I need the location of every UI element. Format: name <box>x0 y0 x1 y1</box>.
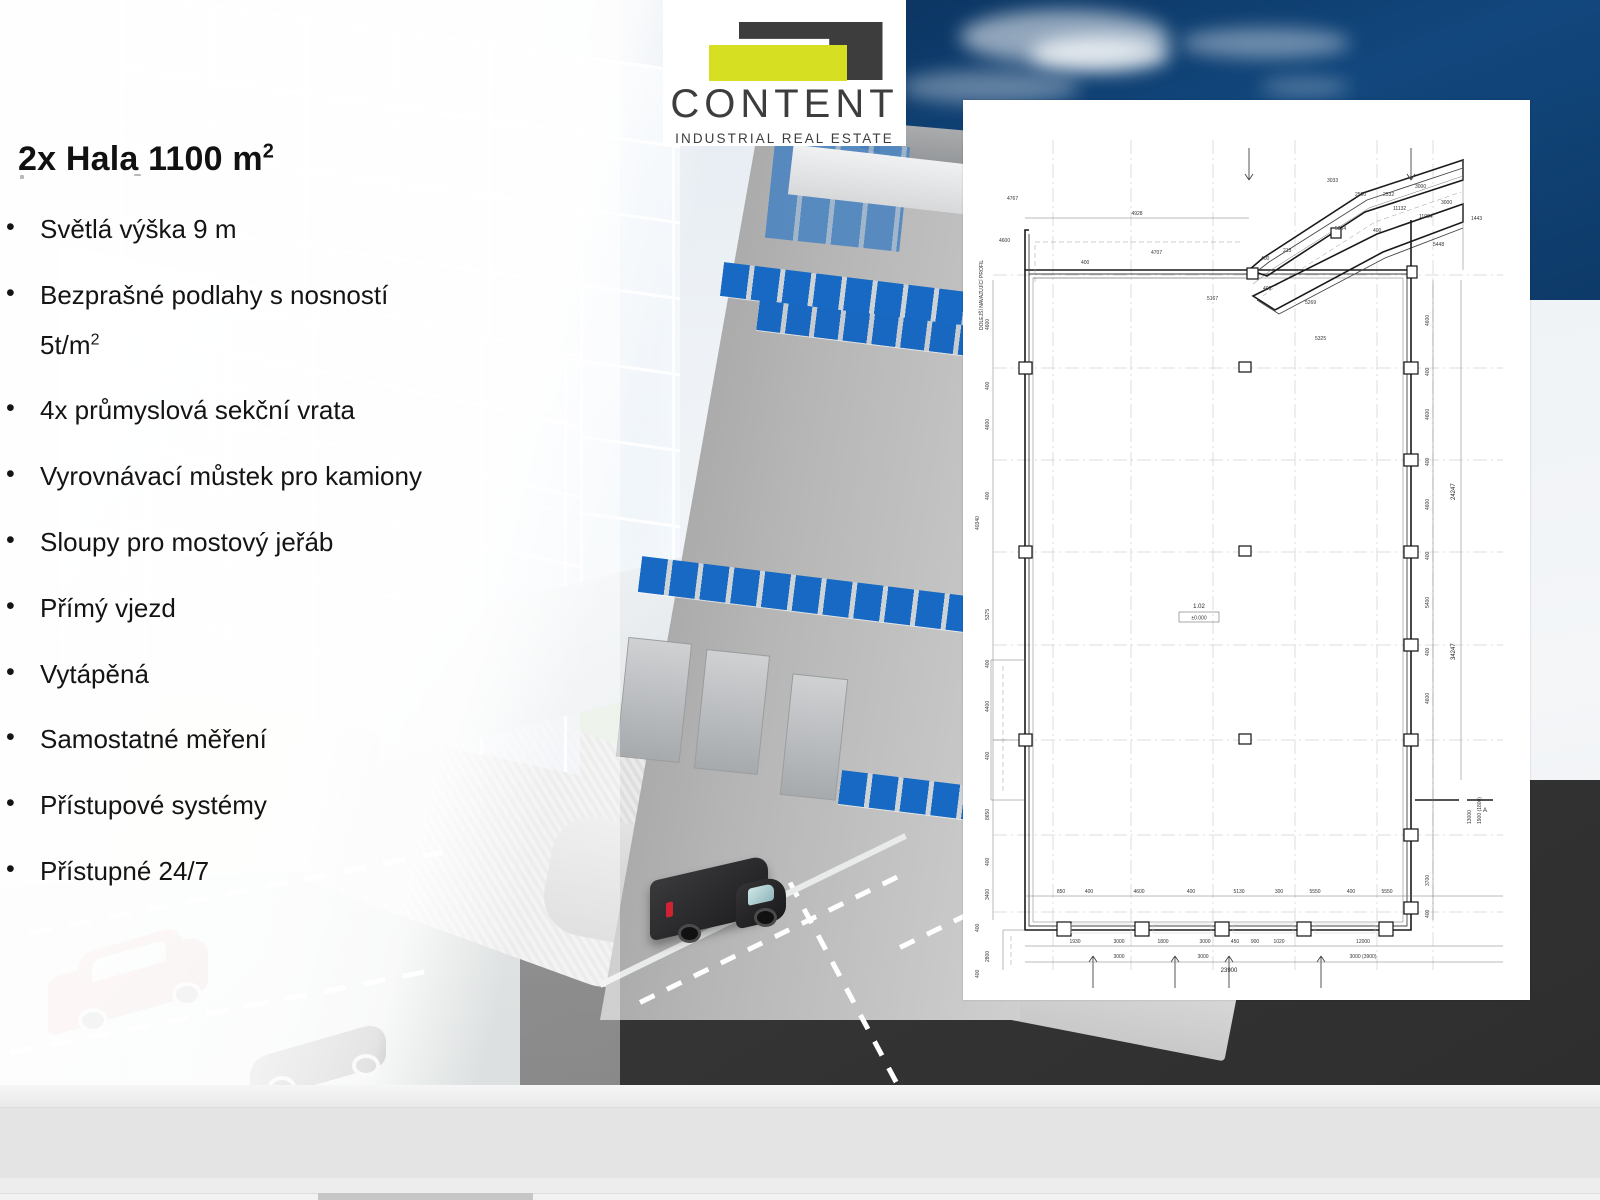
dim-label: 400 <box>1263 286 1272 292</box>
bullet-text: Sloupy pro mostový jeřáb <box>40 527 333 557</box>
bullet-text: 4x průmyslová sekční vrata <box>40 395 355 425</box>
dim-label: 400 <box>975 969 981 978</box>
feature-bullet-list: Světlá výška 9 m Bezprašné podlahy s nos… <box>0 213 560 889</box>
dim-label: 4707 <box>1151 250 1162 256</box>
dim-label: 5400 <box>1425 597 1431 608</box>
dim-label: 4600 <box>1425 315 1431 326</box>
dim-label: 3700 <box>1425 875 1431 886</box>
dim-label: 1443 <box>1471 216 1482 222</box>
dim-label: 5325 <box>1315 336 1326 342</box>
chrome-divider <box>0 1085 1600 1108</box>
dim-label: 8650 <box>985 809 991 820</box>
dim-label: 5130 <box>1233 889 1244 895</box>
list-item: Přístupné 24/7 <box>0 855 560 889</box>
content-logo-mark-icon <box>687 22 883 80</box>
dim-label: 4600 <box>1425 693 1431 704</box>
dim-label: 11984 <box>1419 214 1433 220</box>
dim-label: 450 <box>1231 939 1240 945</box>
dim-label: 400 <box>1425 367 1431 376</box>
dim-label: 3033 <box>1327 178 1338 184</box>
logo-lime-bar <box>709 45 847 81</box>
room-label: 1.02 <box>1193 604 1205 610</box>
room-level: ±0.000 <box>1191 616 1206 622</box>
dim-label: 400 <box>1261 256 1270 262</box>
dim-label-overall-bottom: 23900 <box>1221 968 1238 974</box>
list-item: Sloupy pro mostový jeřáb <box>0 526 560 560</box>
dim-label: 5269 <box>1305 300 1316 306</box>
list-item: Samostatné měření <box>0 723 560 757</box>
floor-plan-drawing: .th{stroke:#1a1a1a;stroke-width:1.6;fill… <box>963 100 1530 1000</box>
dim-label: 400 <box>1347 889 1356 895</box>
scrollbar-thumb[interactable] <box>318 1193 533 1200</box>
dim-label: 5550 <box>1309 889 1320 895</box>
wheel-icon <box>754 908 777 927</box>
dim-label: 4600 <box>1425 499 1431 510</box>
list-item: Bezprašné podlahy s nosností5t/m2 <box>0 279 560 363</box>
chrome-marker <box>20 175 24 179</box>
dim-label: 40340 <box>975 516 981 530</box>
dim-label: 3000 <box>1441 200 1452 206</box>
dim-label: 4600 <box>999 238 1010 244</box>
dim-label: 850 <box>1057 889 1066 895</box>
floor-plan-svg: .th{stroke:#1a1a1a;stroke-width:1.6;fill… <box>963 100 1530 1000</box>
dim-label: 400 <box>985 857 991 866</box>
dim-label-overall-lower: 34247 <box>1451 643 1457 660</box>
bullet-second-line-superscript: 2 <box>91 331 100 348</box>
chrome-marker <box>134 174 141 176</box>
dim-label: 213 <box>1283 248 1292 254</box>
dim-label-overall-upper: 24247 <box>1451 483 1457 500</box>
dim-label: 4600 <box>985 319 991 330</box>
list-item: Přímý vjezd <box>0 592 560 626</box>
dim-label: 3000 <box>1113 954 1124 960</box>
dim-label: 400 <box>1081 260 1090 266</box>
dim-label: 3000 <box>1199 939 1210 945</box>
dim-label: 400 <box>1373 228 1382 234</box>
company-logo: CONTENT INDUSTRIAL REAL ESTATE <box>663 0 906 146</box>
dim-label: 400 <box>1425 909 1431 918</box>
list-item: Vytápěná <box>0 658 560 692</box>
dim-label: 400 <box>985 381 991 390</box>
page-title-superscript: 2 <box>263 141 274 163</box>
dim-label: 1930 <box>1069 939 1080 945</box>
wheel-icon <box>678 924 701 943</box>
dim-label: 900 <box>1251 939 1260 945</box>
dim-label: 3000 <box>1197 954 1208 960</box>
dim-label: 400 <box>975 923 981 932</box>
dim-label: 400 <box>1425 551 1431 560</box>
logo-tagline: INDUSTRIAL REAL ESTATE <box>675 131 894 146</box>
feature-text-column: 2x Hala 1100 m2 Světlá výška 9 m Bezpraš… <box>0 140 560 921</box>
dim-label: 4928 <box>1131 211 1142 217</box>
dim-label: 400 <box>1187 889 1196 895</box>
list-item: 4x průmyslová sekční vrata <box>0 394 560 428</box>
dim-label: 4600 <box>1425 409 1431 420</box>
list-item: Světlá výška 9 m <box>0 213 560 247</box>
dim-label: 4600 <box>985 419 991 430</box>
bullet-text: Světlá výška 9 m <box>40 214 237 244</box>
bullet-text: Přístupové systémy <box>40 790 267 820</box>
dim-label: 5334 <box>1335 226 1346 232</box>
logo-wordmark: CONTENT <box>670 84 898 124</box>
list-item: Přístupové systémy <box>0 789 560 823</box>
bullet-text: Vyrovnávací můstek pro kamiony <box>40 461 422 491</box>
chrome-empty-panel <box>0 1108 1600 1178</box>
dim-label: 400 <box>985 659 991 668</box>
dim-label: 4600 <box>1133 889 1144 895</box>
dim-label: 3000 <box>1113 939 1124 945</box>
dim-label: 13000 <box>1467 810 1473 824</box>
dim-label: 400 <box>1425 457 1431 466</box>
section-marker-label: A <box>1483 808 1487 814</box>
dim-label: 5375 <box>985 609 991 620</box>
bullet-text: Samostatné měření <box>40 724 267 754</box>
dim-label: 4400 <box>985 701 991 712</box>
black-van-vehicle <box>650 850 800 936</box>
dim-label: 300 <box>1275 889 1284 895</box>
dim-label: 400 <box>985 751 991 760</box>
presentation-slide: 2x Hala 1100 m2 Světlá výška 9 m Bezpraš… <box>0 0 1600 1200</box>
dim-label: 3000 (3900) <box>1350 954 1377 960</box>
dim-label: 5550 <box>1381 889 1392 895</box>
dim-label: 11132 <box>1393 206 1406 212</box>
dim-label: 3000 <box>1415 184 1426 190</box>
bullet-second-line: 5t/m2 <box>40 329 560 363</box>
browser-chrome-bottom <box>0 1085 1600 1200</box>
dim-label: 5448 <box>1433 242 1444 248</box>
dim-label: 400 <box>1085 889 1094 895</box>
dim-label: 5167 <box>1207 296 1218 302</box>
dim-label: 12000 <box>1356 939 1370 945</box>
plan-note: DOLEJŠÍ NAVAZUJÍCÍ PROFIL <box>978 260 985 330</box>
dim-label: 2800 <box>985 951 991 962</box>
page-title-text: 2x Hala 1100 m <box>18 140 263 178</box>
horizontal-scrollbar[interactable] <box>0 1193 1600 1200</box>
dim-label: 2500 <box>1355 192 1366 198</box>
bullet-second-line-text: 5t/m <box>40 330 91 360</box>
bullet-text: Přímý vjezd <box>40 593 176 623</box>
taillight-icon <box>666 901 673 918</box>
dim-label: 400 <box>985 491 991 500</box>
bullet-text: Bezprašné podlahy s nosností <box>40 280 388 310</box>
dim-label: 1020 <box>1273 939 1284 945</box>
page-title: 2x Hala 1100 m2 <box>18 140 560 179</box>
bullet-text: Přístupné 24/7 <box>40 856 209 886</box>
dim-label: 1900 (1800) <box>1477 797 1483 824</box>
dim-label: 400 <box>1425 647 1431 656</box>
dim-label: 3400 <box>985 889 991 900</box>
dim-label: 4767 <box>1007 196 1018 202</box>
list-item: Vyrovnávací můstek pro kamiony <box>0 460 560 494</box>
dim-label: 2532 <box>1383 192 1394 198</box>
dim-label: 1800 <box>1157 939 1168 945</box>
bullet-text: Vytápěná <box>40 659 149 689</box>
